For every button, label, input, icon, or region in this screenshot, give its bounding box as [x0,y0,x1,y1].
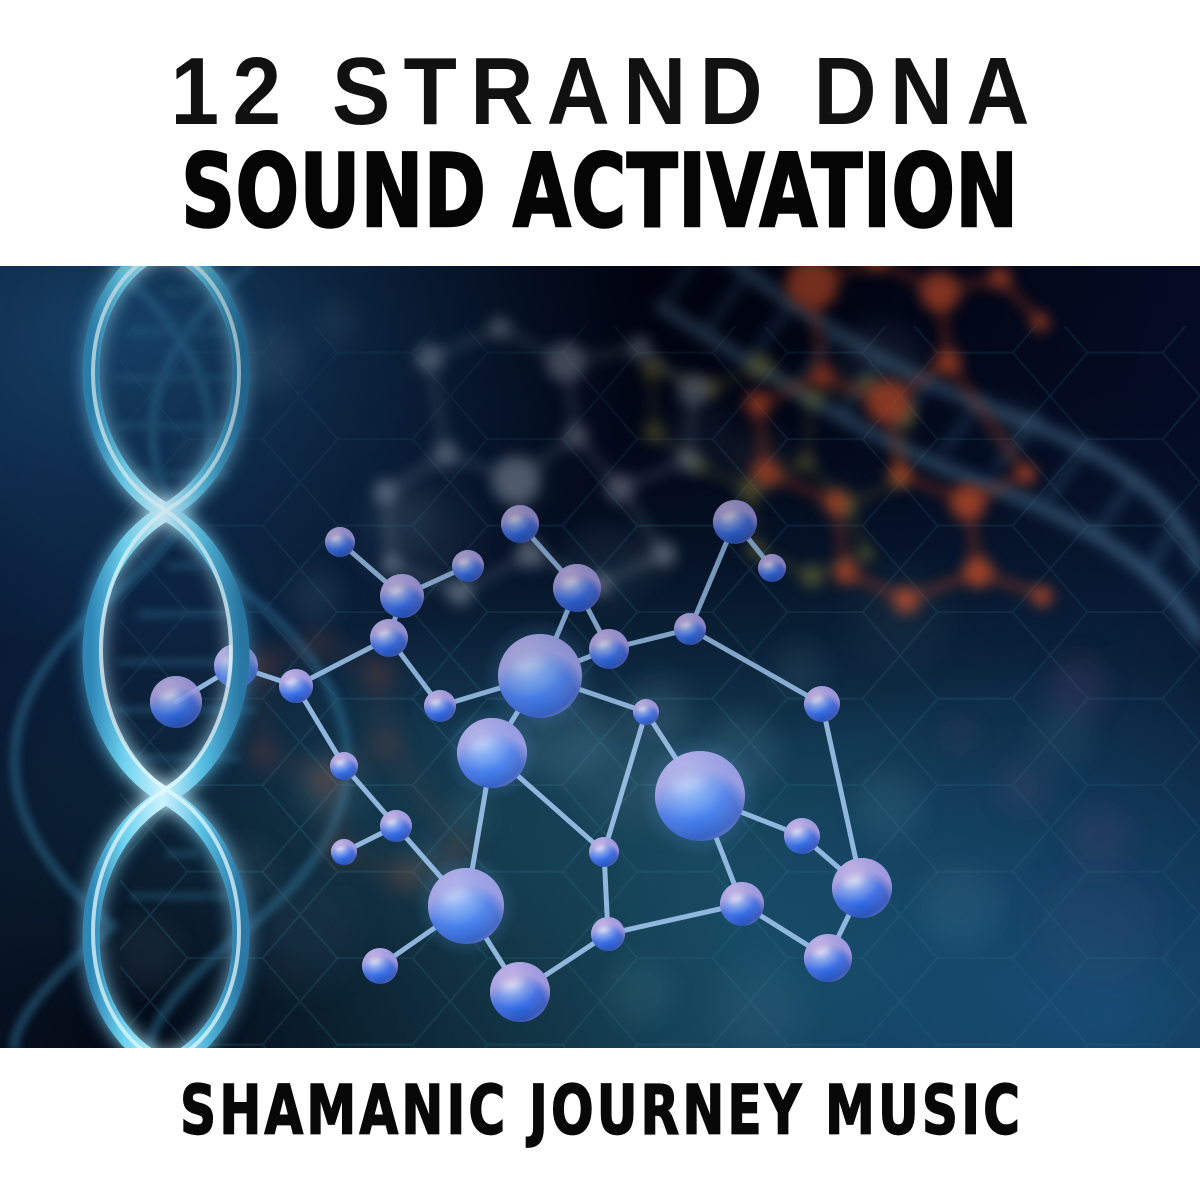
footer-block: SHAMANIC JOURNEY MUSIC [0,1048,1200,1200]
artwork-illustration [0,266,1200,1048]
album-title-line-1: 12 STRAND DNA [30,42,1170,142]
artist-name: SHAMANIC JOURNEY MUSIC [96,1075,1104,1147]
vignette [0,266,1200,1048]
album-cover: 12 STRAND DNA SOUND ACTIVATION [0,0,1200,1200]
album-artwork [0,266,1200,1048]
album-title-line-2: SOUND ACTIVATION [84,139,1116,244]
title-block: 12 STRAND DNA SOUND ACTIVATION [0,0,1200,266]
